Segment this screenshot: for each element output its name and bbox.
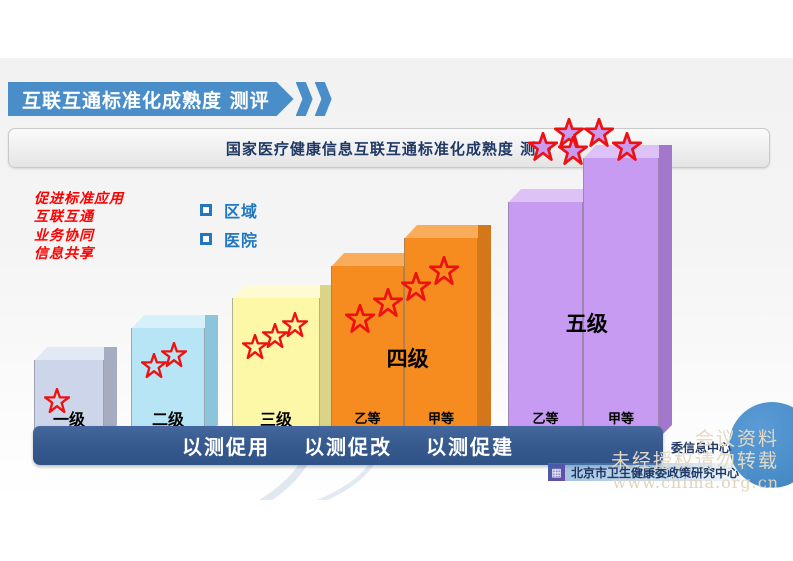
banner-item: 以测促改 — [304, 431, 392, 460]
header-banner: 互联互通标准化成熟度 测评 — [8, 82, 332, 116]
bar-level-3[interactable]: 三级 — [232, 285, 333, 438]
bar-level-5[interactable]: 甲等 — [404, 225, 491, 438]
header-banner-body: 互联互通标准化成熟度 测评 — [8, 82, 294, 116]
header-title: 互联互通标准化成熟度 测评 — [22, 86, 270, 113]
bar-front-face — [583, 158, 659, 438]
chevron-right-icon — [296, 82, 313, 116]
slogan-line: 信息共享 — [34, 245, 124, 263]
legend: 区域 医院 — [200, 198, 258, 256]
bar-grade-label: 甲等 — [583, 408, 659, 427]
bar-top-face — [232, 285, 333, 299]
square-outline-icon — [200, 233, 212, 245]
slogan-block: 促进标准应用 互联互通 业务协同 信息共享 — [34, 190, 124, 264]
bar-side-face — [104, 347, 117, 438]
bar-grade-label: 乙等 — [508, 408, 583, 427]
slogan-line: 促进标准应用 — [34, 190, 124, 208]
square-outline-icon — [200, 204, 212, 216]
bar-top-face — [583, 145, 672, 159]
bar-side-face — [205, 315, 218, 438]
bar-side-face — [659, 145, 672, 438]
bottom-banner: 以测促用 以测促改 以测促建 — [33, 426, 663, 465]
chevron-right-icon — [315, 82, 332, 116]
bar-level-1[interactable]: 一级 — [34, 347, 117, 438]
banner-item: 以测促用 — [182, 431, 270, 460]
slogan-line: 互联互通 — [34, 208, 124, 226]
legend-item-region[interactable]: 区域 — [200, 198, 258, 222]
legend-item-hospital[interactable]: 医院 — [200, 227, 258, 251]
bar-side-face — [478, 225, 491, 438]
bar-level-2[interactable]: 二级 — [131, 315, 218, 438]
footer-org-name: 北京市卫生健康委政策研究中心 — [571, 464, 739, 481]
bar-grade-label: 甲等 — [404, 408, 478, 427]
bar-top-face — [404, 225, 491, 239]
bar-level-7[interactable]: 甲等 — [583, 145, 672, 438]
bar-level-label: 四级 — [371, 343, 444, 373]
footer-info-center: 委信息中心 — [671, 439, 731, 456]
bar-grade-label: 乙等 — [331, 408, 404, 427]
slide-canvas: 互联互通标准化成熟度 测评 国家医疗健康信息互联互通标准化成熟度 测评 促进标准… — [0, 58, 793, 500]
banner-item: 以测促建 — [426, 431, 514, 460]
legend-label: 医院 — [224, 227, 258, 251]
legend-label: 区域 — [224, 198, 258, 222]
footer-org-chip: ▦ 北京市卫生健康委政策研究中心 — [548, 463, 747, 481]
building-icon: ▦ — [548, 464, 565, 481]
bar-level-label: 五级 — [549, 308, 624, 338]
slogan-line: 业务协同 — [34, 227, 124, 245]
subtitle-text: 国家医疗健康信息互联互通标准化成熟度 测评 — [226, 138, 552, 159]
bar-top-face — [131, 315, 218, 329]
